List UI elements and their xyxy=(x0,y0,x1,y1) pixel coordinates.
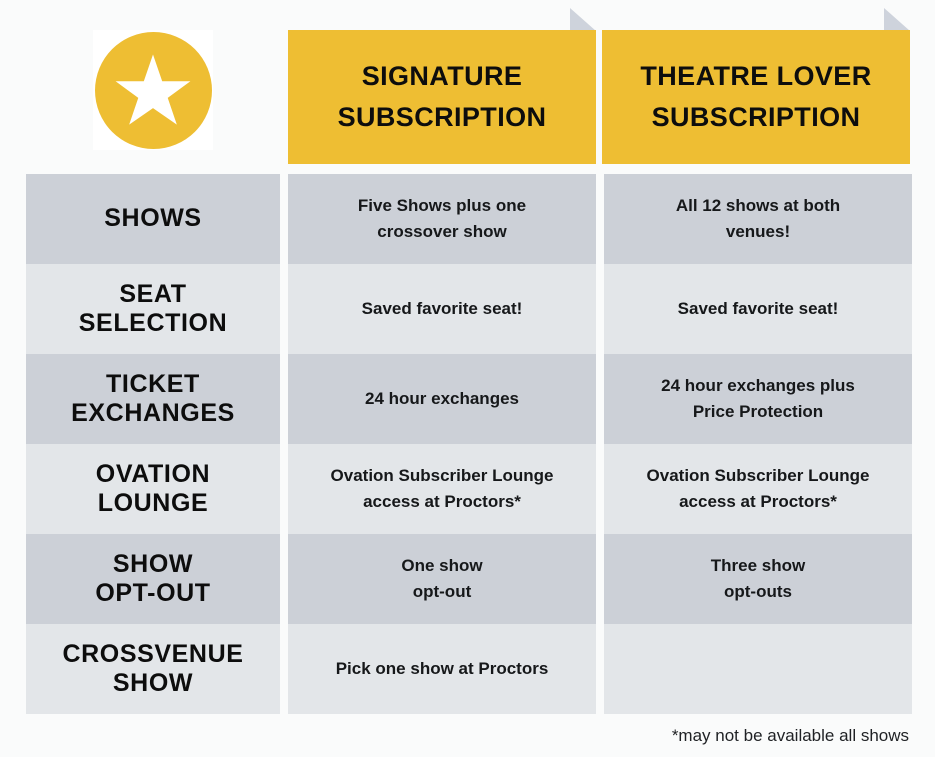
cell-line2: access at Proctors* xyxy=(331,489,554,515)
cell-line1: Ovation Subscriber Lounge xyxy=(647,463,870,489)
star-icon xyxy=(95,32,212,149)
column-header-signature-title: SIGNATURE SUBSCRIPTION xyxy=(328,56,557,138)
cell-signature-seat-selection: Saved favorite seat! xyxy=(288,264,596,354)
cell-signature-crossvenue-show: Pick one show at Proctors xyxy=(288,624,596,714)
row-label-line2: SELECTION xyxy=(79,309,227,339)
cell-theatre-lover-show-opt-out: Three show opt-outs xyxy=(604,534,912,624)
row-label-line1: CROSSVENUE xyxy=(62,640,243,670)
cell-line1: One show xyxy=(401,553,482,579)
cell-theatre-lover-shows: All 12 shows at both venues! xyxy=(604,174,912,264)
cell-line1: Saved favorite seat! xyxy=(678,296,839,322)
cell-line2: Price Protection xyxy=(661,399,855,425)
row-label-line2: LOUNGE xyxy=(96,489,210,519)
logo-cell xyxy=(26,0,280,168)
cell-line2: crossover show xyxy=(358,219,526,245)
cell-line2: access at Proctors* xyxy=(647,489,870,515)
column-header-theatre-lover: THEATRE LOVER SUBSCRIPTION xyxy=(602,30,910,164)
cell-line1: Saved favorite seat! xyxy=(362,296,523,322)
column-header-signature-line2: SUBSCRIPTION xyxy=(338,97,547,138)
row-label-line1: SHOWS xyxy=(104,204,201,234)
cell-line2: opt-outs xyxy=(711,579,805,605)
row-label-shows: SHOWS xyxy=(26,174,280,264)
table-row: SHOWS Five Shows plus one crossover show… xyxy=(26,174,910,264)
table-row: OVATION LOUNGE Ovation Subscriber Lounge… xyxy=(26,444,910,534)
row-label-ticket-exchanges: TICKET EXCHANGES xyxy=(26,354,280,444)
cell-theatre-lover-ovation-lounge: Ovation Subscriber Lounge access at Proc… xyxy=(604,444,912,534)
ribbon-fold-icon-signature xyxy=(570,8,596,31)
table-row: TICKET EXCHANGES 24 hour exchanges 24 ho… xyxy=(26,354,910,444)
row-label-line2: EXCHANGES xyxy=(71,399,235,429)
cell-line2: opt-out xyxy=(401,579,482,605)
cell-theatre-lover-ticket-exchanges: 24 hour exchanges plus Price Protection xyxy=(604,354,912,444)
row-label-crossvenue-show: CROSSVENUE SHOW xyxy=(26,624,280,714)
logo-plate xyxy=(93,30,213,150)
column-header-signature-line1: SIGNATURE xyxy=(338,56,547,97)
footnote: *may not be available all shows xyxy=(672,726,909,746)
ribbon-fold-icon-theatre-lover xyxy=(884,8,910,31)
comparison-header: SIGNATURE SUBSCRIPTION THEATRE LOVER SUB… xyxy=(0,0,935,168)
cell-line1: Pick one show at Proctors xyxy=(336,656,549,682)
table-row: CROSSVENUE SHOW Pick one show at Proctor… xyxy=(26,624,910,714)
cell-line2: venues! xyxy=(676,219,840,245)
cell-line1: 24 hour exchanges plus xyxy=(661,373,855,399)
subscription-comparison-page: SIGNATURE SUBSCRIPTION THEATRE LOVER SUB… xyxy=(0,0,935,757)
cell-signature-ticket-exchanges: 24 hour exchanges xyxy=(288,354,596,444)
cell-signature-shows: Five Shows plus one crossover show xyxy=(288,174,596,264)
cell-line1: Three show xyxy=(711,553,805,579)
cell-signature-ovation-lounge: Ovation Subscriber Lounge access at Proc… xyxy=(288,444,596,534)
row-label-line1: TICKET xyxy=(71,370,235,400)
row-label-line1: OVATION xyxy=(96,460,210,490)
column-header-theatre-lover-title: THEATRE LOVER SUBSCRIPTION xyxy=(630,56,881,138)
cell-line1: Ovation Subscriber Lounge xyxy=(331,463,554,489)
row-label-line2: SHOW xyxy=(62,669,243,699)
table-row: SHOW OPT-OUT One show opt-out Three show… xyxy=(26,534,910,624)
cell-theatre-lover-seat-selection: Saved favorite seat! xyxy=(604,264,912,354)
column-header-theatre-lover-line1: THEATRE LOVER xyxy=(640,56,871,97)
cell-signature-show-opt-out: One show opt-out xyxy=(288,534,596,624)
column-header-theatre-lover-line2: SUBSCRIPTION xyxy=(640,97,871,138)
comparison-table: SHOWS Five Shows plus one crossover show… xyxy=(26,174,910,714)
cell-line1: Five Shows plus one xyxy=(358,193,526,219)
row-label-seat-selection: SEAT SELECTION xyxy=(26,264,280,354)
row-label-line1: SHOW xyxy=(95,550,210,580)
row-label-show-opt-out: SHOW OPT-OUT xyxy=(26,534,280,624)
table-row: SEAT SELECTION Saved favorite seat! Save… xyxy=(26,264,910,354)
cell-theatre-lover-crossvenue-show xyxy=(604,624,912,714)
row-label-line2: OPT-OUT xyxy=(95,579,210,609)
row-label-ovation-lounge: OVATION LOUNGE xyxy=(26,444,280,534)
row-label-line1: SEAT xyxy=(79,280,227,310)
cell-line1: 24 hour exchanges xyxy=(365,386,519,412)
column-header-signature: SIGNATURE SUBSCRIPTION xyxy=(288,30,596,164)
cell-line1: All 12 shows at both xyxy=(676,193,840,219)
